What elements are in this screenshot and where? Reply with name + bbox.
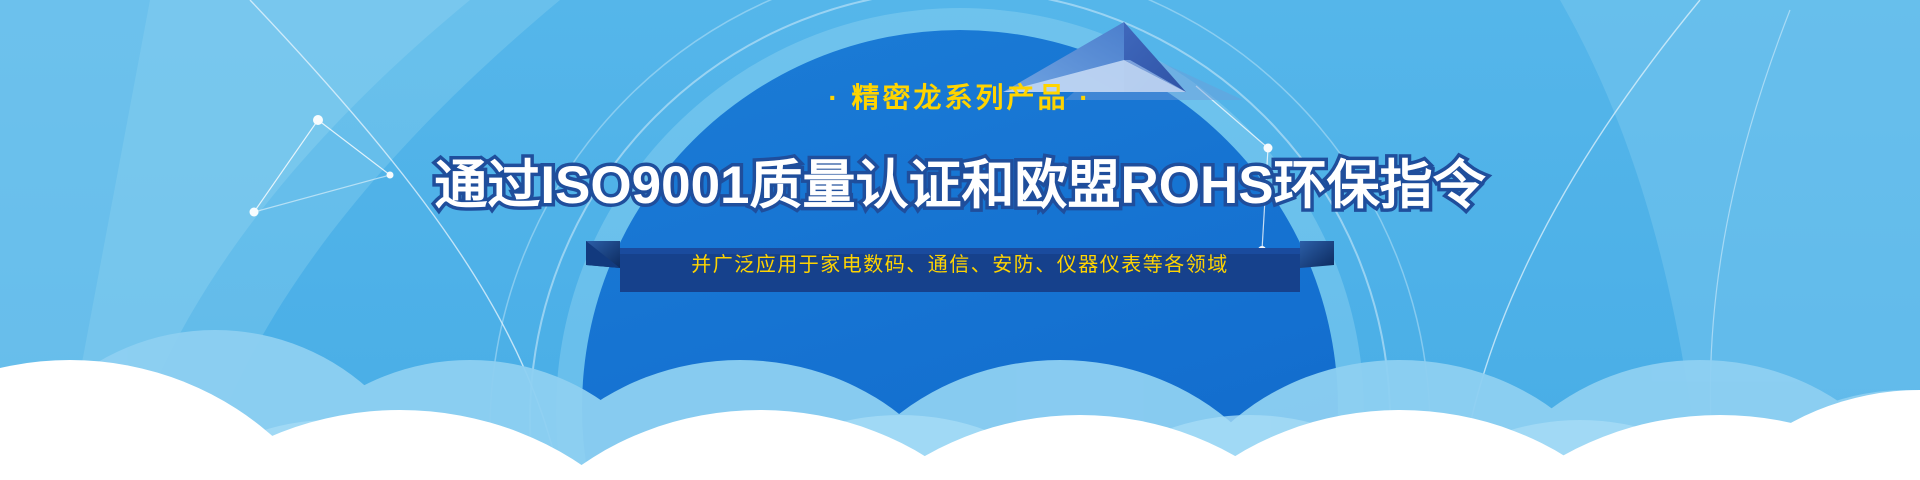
ribbon-banner <box>0 0 1920 480</box>
ribbon-fold-right <box>1300 241 1334 268</box>
ribbon-body <box>620 248 1300 292</box>
promo-banner: · 精密龙系列产品 · 通过ISO9001质量认证和欧盟ROHS环保指令 并广泛… <box>0 0 1920 480</box>
ribbon-body-sheen <box>620 248 1300 254</box>
